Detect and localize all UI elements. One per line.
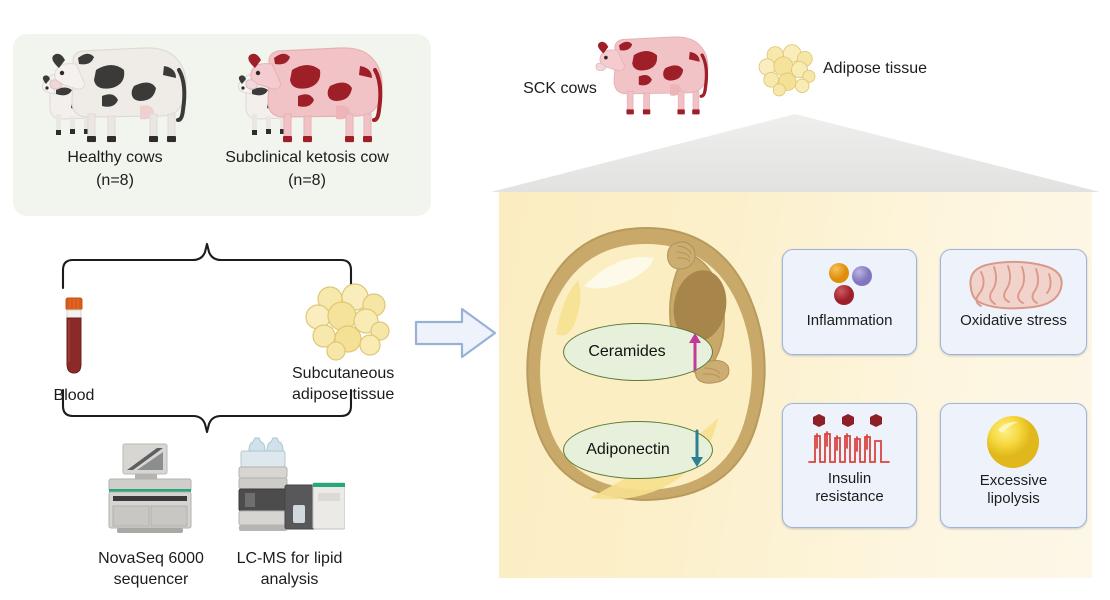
healthy-cow-icon — [22, 30, 202, 145]
sck-cows-label: SCK cows — [495, 78, 625, 99]
healthy-cows-n: (n=8) — [35, 170, 195, 191]
flow-arrow-icon — [414, 305, 498, 361]
lcms-icon — [225, 435, 345, 540]
brace-down-icon — [55, 388, 355, 438]
lipid-droplet-icon — [982, 414, 1046, 472]
outcome-oxidative-stress-label: Oxidative stress — [941, 312, 1086, 330]
ketosis-cow-label: Subclinical ketosis cow — [202, 147, 412, 168]
sequencer-label: NovaSeq 6000 sequencer — [70, 548, 232, 590]
outcome-oxidative-stress[interactable]: Oxidative stress — [940, 249, 1087, 355]
outcome-excessive-lipolysis[interactable]: Excessive lipolysis — [940, 403, 1087, 528]
mitochondrion-icon — [961, 258, 1067, 310]
adiponectin-down-arrow-icon — [689, 429, 705, 469]
outcome-inflammation-label: Inflammation — [783, 312, 916, 330]
outcome-insulin-resistance[interactable]: Insulin resistance — [782, 403, 917, 528]
adipose-tissue-label: Adipose tissue — [823, 58, 1003, 79]
zoom-funnel-icon — [489, 112, 1102, 194]
outcome-insulin-resistance-label: Insulin resistance — [783, 470, 916, 506]
sequencer-icon — [95, 440, 205, 540]
adipose-cluster-icon — [300, 283, 392, 363]
ketosis-cow-n: (n=8) — [202, 170, 412, 191]
insulin-receptor-icon — [803, 412, 895, 470]
outcome-inflammation[interactable]: Inflammation — [782, 249, 917, 355]
cytokine-spheres-icon — [817, 260, 883, 308]
ceramides-up-arrow-icon — [687, 331, 703, 371]
ketotic-cow-icon — [218, 30, 398, 145]
lcms-label: LC-MS for lipid analysis — [212, 548, 367, 590]
healthy-cows-label: Healthy cows — [35, 147, 195, 168]
adipose-tissue-icon — [755, 40, 817, 102]
sck-cow-icon — [573, 17, 721, 122]
blood-tube-icon — [58, 289, 90, 381]
outcome-excessive-lipolysis-label: Excessive lipolysis — [941, 472, 1086, 508]
